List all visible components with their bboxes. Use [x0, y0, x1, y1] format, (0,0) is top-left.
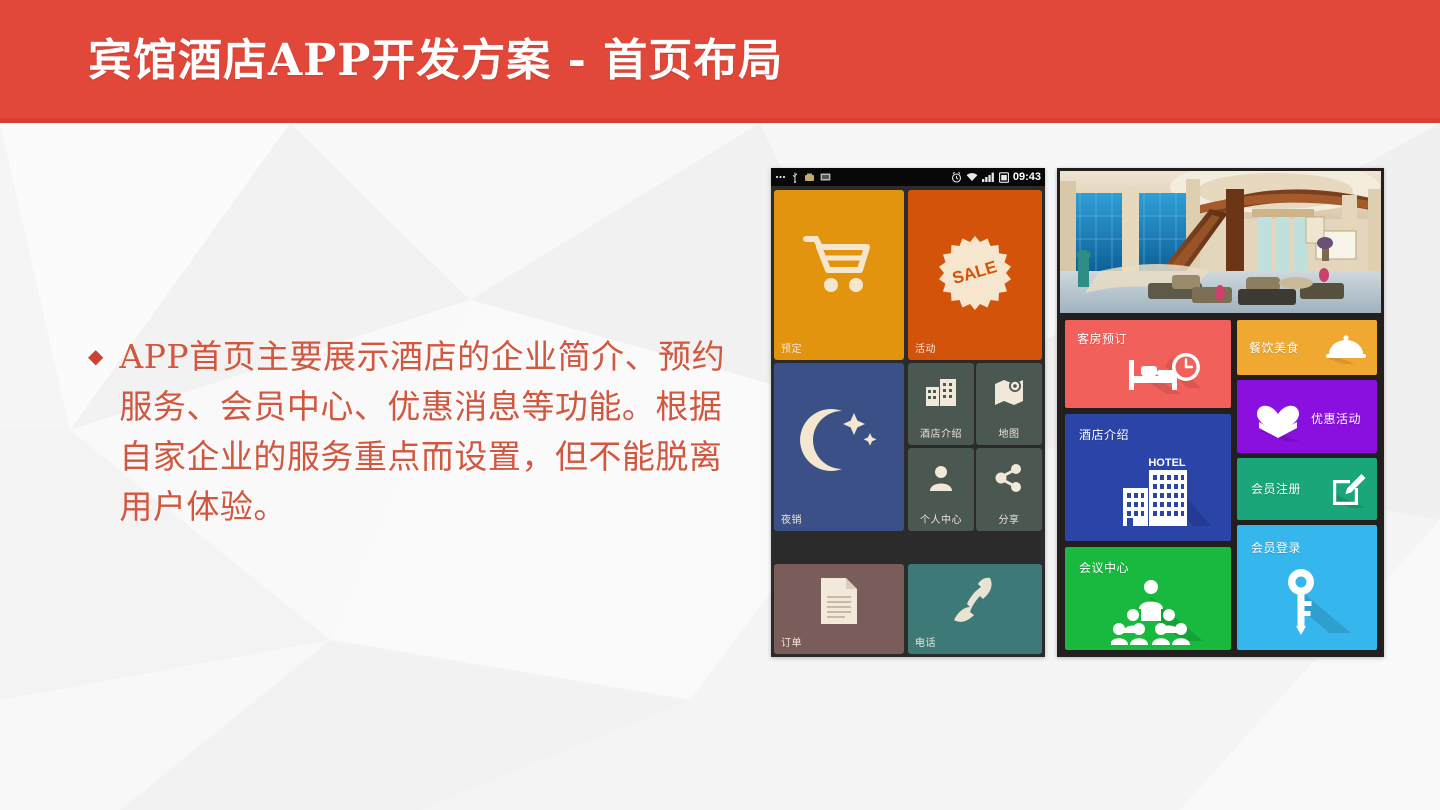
bullet-text: APP首页主要展示酒店的企业简介、预约服务、会员中心、优惠消息等功能。根据自家企… — [119, 332, 748, 532]
hotel-lobby-photo — [1060, 171, 1381, 313]
share-icon — [995, 464, 1023, 492]
battery-icon — [999, 172, 1009, 183]
tile-jiudian-jieshao[interactable]: 酒店介绍 HOTEL — [1065, 414, 1231, 541]
tile-label: 个人中心 — [908, 511, 974, 526]
tile-youhui-huodong[interactable]: 优惠活动 — [1237, 380, 1377, 453]
tile-canyin-meishi[interactable]: 餐饮美食 — [1237, 320, 1377, 375]
heart-icon — [1251, 392, 1305, 442]
edit-pencil-icon — [1329, 472, 1367, 508]
people-group-icon — [1111, 579, 1213, 645]
tile-jiudian-jieshao[interactable]: 酒店介绍 — [908, 363, 974, 445]
app-icon — [804, 172, 815, 183]
tile-label: 酒店介绍 — [1079, 426, 1129, 443]
tile-label: 会员登录 — [1251, 539, 1301, 556]
signal-icon — [982, 172, 995, 182]
alarm-icon — [951, 172, 962, 183]
status-bar-left-icons — [775, 172, 951, 183]
tile-label: 夜销 — [781, 511, 802, 526]
key-icon — [1279, 567, 1353, 637]
map-pin-icon — [993, 377, 1025, 407]
tile-label: 分享 — [976, 511, 1042, 526]
document-icon — [818, 576, 860, 626]
svg-text:HOTEL: HOTEL — [1148, 457, 1186, 469]
tile-huiyuan-denglu[interactable]: 会员登录 — [1237, 525, 1377, 650]
tile-label: 订单 — [781, 634, 802, 649]
tile-label: 活动 — [915, 340, 936, 355]
page-title: 宾馆酒店APP开发方案 - 首页布局 — [88, 32, 783, 90]
hotel-building-icon: HOTEL — [1115, 452, 1215, 532]
tile-label: 会员注册 — [1251, 480, 1301, 497]
tile-label: 餐饮美食 — [1249, 339, 1299, 356]
tile-ditu[interactable]: 地图 — [976, 363, 1042, 445]
moon-stars-icon — [796, 405, 882, 475]
wifi-icon — [966, 172, 978, 182]
bullet-marker-icon: ◆ — [88, 332, 103, 382]
usb-icon — [791, 172, 799, 183]
more-dots-icon — [775, 172, 786, 182]
phone-mockup-left: 09:43 预定 SALE 活动 — [771, 168, 1045, 657]
tile-label: 优惠活动 — [1311, 410, 1361, 427]
tile-label: 地图 — [976, 425, 1042, 440]
status-bar-right-icons: 09:43 — [951, 171, 1041, 183]
food-cloche-icon — [1325, 332, 1367, 364]
screenshot-icon — [820, 172, 831, 182]
tile-label: 会议中心 — [1079, 559, 1129, 576]
slide-canvas: 宾馆酒店APP开发方案 - 首页布局 ◆ APP首页主要展示酒店的企业简介、预约… — [0, 0, 1440, 810]
sale-badge-icon: SALE — [937, 234, 1013, 310]
phone-icon — [950, 574, 1000, 628]
tile-geren-zhongxin[interactable]: 个人中心 — [908, 448, 974, 531]
person-icon — [927, 464, 955, 492]
tile-label: 预定 — [781, 340, 802, 355]
tile-kefang-yuding[interactable]: 客房预订 — [1065, 320, 1231, 408]
bed-clock-icon — [1125, 346, 1203, 398]
tile-huiyi-zhongxin[interactable]: 会议中心 — [1065, 547, 1231, 650]
tile-dianhua[interactable]: 电话 — [908, 564, 1042, 654]
bullet-block: ◆ APP首页主要展示酒店的企业简介、预约服务、会员中心、优惠消息等功能。根据自… — [88, 332, 748, 532]
tile-yuding[interactable]: 预定 — [774, 190, 904, 360]
tile-huiyuan-zhuce[interactable]: 会员注册 — [1237, 458, 1377, 520]
header-underline — [0, 118, 1440, 123]
building-icon — [924, 377, 958, 407]
shopping-cart-icon — [802, 234, 876, 298]
tile-label: 客房预订 — [1077, 330, 1127, 347]
phone-mockup-right: 客房预订 餐饮美食 — [1057, 168, 1384, 657]
tile-label: 酒店介绍 — [908, 425, 974, 440]
status-bar: 09:43 — [771, 168, 1045, 186]
tile-huodong[interactable]: SALE 活动 — [908, 190, 1042, 360]
tile-yexiao[interactable]: 夜销 — [774, 363, 904, 531]
tile-dingdan[interactable]: 订单 — [774, 564, 904, 654]
tile-label: 电话 — [915, 634, 936, 649]
status-bar-clock: 09:43 — [1013, 171, 1041, 183]
tile-fenxiang[interactable]: 分享 — [976, 448, 1042, 531]
